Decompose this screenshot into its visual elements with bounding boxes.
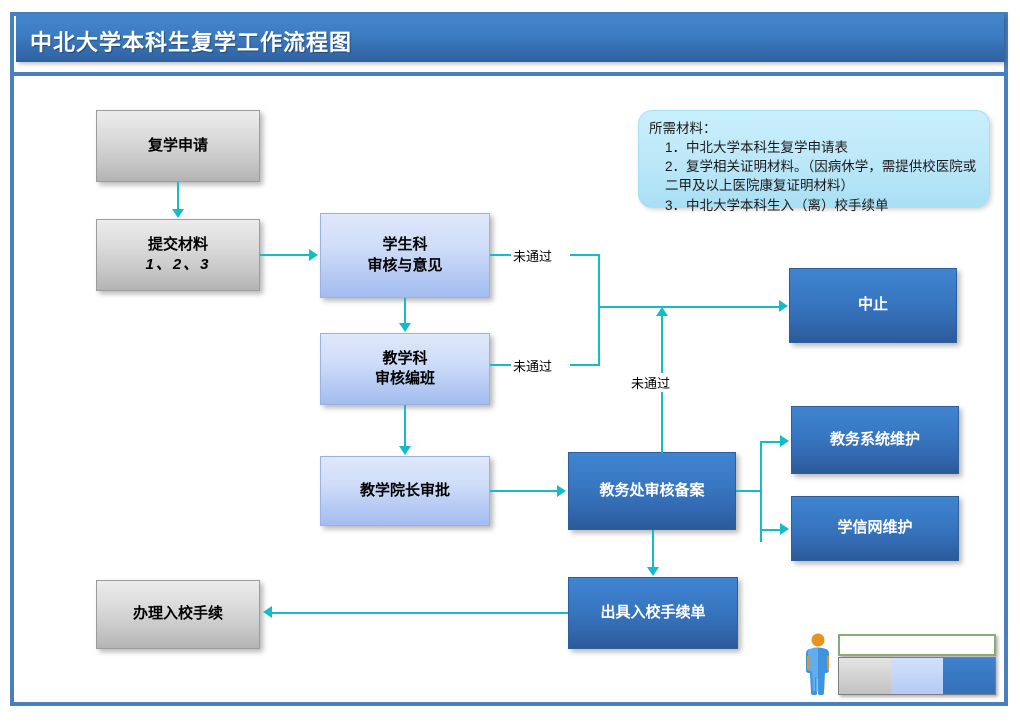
page-title: 中北大学本科生复学工作流程图 bbox=[30, 25, 352, 57]
arrowhead-academic-office-to-issue-slip bbox=[647, 567, 659, 576]
legend-swatch-dark-blue bbox=[943, 658, 995, 694]
edge-academic-office-to-issue-slip bbox=[652, 530, 654, 568]
node-teaching-section-line2: 审核编班 bbox=[375, 369, 435, 389]
arrowhead-academic-office-fail-up bbox=[656, 307, 668, 316]
arrowhead-merged-to-terminate bbox=[779, 300, 788, 312]
note-title: 所需材料： bbox=[649, 119, 979, 138]
edge-submit-to-student-affairs bbox=[260, 254, 310, 256]
node-submit-sublabel: 1、2、3 bbox=[145, 255, 210, 275]
node-issue-entry-slip[interactable]: 出具入校手续单 bbox=[568, 577, 738, 649]
edge-dean-to-academic-office bbox=[490, 490, 558, 492]
node-terminate-label: 中止 bbox=[858, 295, 888, 315]
note-item-3: 3．中北大学本科生入（离）校手续单 bbox=[649, 196, 979, 215]
arrowhead-branch-to-system-maintenance bbox=[780, 435, 789, 447]
node-student-affairs[interactable]: 学生科 审核与意见 bbox=[320, 213, 490, 298]
edge-label-fail-academic-office: 未通过 bbox=[629, 373, 672, 392]
flowchart-canvas: 中北大学本科生复学工作流程图 复学申请 提交材料 1、2、3 学生科 审核与意见… bbox=[0, 0, 1020, 728]
node-dean-approval[interactable]: 教学院长审批 bbox=[320, 456, 490, 526]
arrowhead-issue-slip-to-entry-procedures bbox=[263, 606, 272, 618]
edge-branch-to-system-maintenance bbox=[760, 441, 782, 443]
arrowhead-submit-to-student-affairs bbox=[309, 249, 318, 261]
legend-blank-box bbox=[838, 634, 996, 656]
edge-merged-to-terminate bbox=[598, 306, 780, 308]
edge-teaching-to-dean bbox=[404, 405, 406, 447]
node-system-maintenance[interactable]: 教务系统维护 bbox=[791, 406, 959, 474]
edge-branch-to-chsi-maintenance bbox=[760, 529, 782, 531]
frame-divider bbox=[10, 72, 1008, 76]
arrowhead-apply-to-submit bbox=[172, 209, 184, 218]
node-academic-office[interactable]: 教务处审核备案 bbox=[568, 452, 736, 530]
node-entry-procedures[interactable]: 办理入校手续 bbox=[96, 580, 260, 649]
node-academic-office-label: 教务处审核备案 bbox=[599, 481, 704, 501]
edge-student-affairs-fail-run bbox=[570, 254, 600, 256]
arrowhead-student-affairs-to-teaching bbox=[399, 323, 411, 332]
node-teaching-section[interactable]: 教学科 审核编班 bbox=[320, 333, 490, 405]
arrowhead-dean-to-academic-office bbox=[557, 485, 566, 497]
edge-academic-office-branch-stub bbox=[736, 490, 762, 492]
legend bbox=[800, 632, 1000, 698]
edge-student-affairs-to-teaching bbox=[404, 298, 406, 324]
note-item-2: 2．复学相关证明材料。（因病休学，需提供校医院或二甲及以上医院康复证明材料） bbox=[649, 157, 979, 195]
edge-apply-to-submit bbox=[177, 182, 179, 210]
person-icon bbox=[804, 632, 832, 696]
node-student-affairs-line2: 审核与意见 bbox=[367, 256, 442, 276]
node-chsi-maintenance-label: 学信网维护 bbox=[837, 518, 912, 538]
legend-swatch-light-blue bbox=[891, 658, 943, 694]
note-item-1: 1．中北大学本科生复学申请表 bbox=[649, 138, 979, 157]
node-dean-approval-label: 教学院长审批 bbox=[360, 481, 450, 501]
edge-student-affairs-fail-drop bbox=[598, 254, 600, 308]
node-student-affairs-line1: 学生科 bbox=[382, 235, 427, 255]
title-bar: 中北大学本科生复学工作流程图 bbox=[16, 14, 1004, 62]
legend-swatch-gray bbox=[839, 658, 891, 694]
node-issue-entry-slip-label: 出具入校手续单 bbox=[600, 603, 705, 623]
node-chsi-maintenance[interactable]: 学信网维护 bbox=[791, 496, 959, 561]
node-submit-label: 提交材料 bbox=[148, 235, 208, 255]
legend-swatch-row bbox=[838, 657, 996, 695]
edge-label-fail-teaching: 未通过 bbox=[511, 356, 554, 375]
node-apply-label: 复学申请 bbox=[148, 136, 208, 156]
edge-teaching-fail-run bbox=[570, 364, 600, 366]
node-teaching-section-line1: 教学科 bbox=[382, 349, 427, 369]
required-materials-note: 所需材料： 1．中北大学本科生复学申请表 2．复学相关证明材料。（因病休学，需提… bbox=[638, 110, 990, 208]
edge-issue-slip-to-entry-procedures bbox=[272, 612, 568, 614]
node-submit-materials[interactable]: 提交材料 1、2、3 bbox=[96, 219, 260, 291]
node-entry-procedures-label: 办理入校手续 bbox=[133, 604, 223, 624]
node-system-maintenance-label: 教务系统维护 bbox=[830, 430, 920, 450]
edge-teaching-fail-rise bbox=[598, 306, 600, 366]
arrowhead-teaching-to-dean bbox=[399, 446, 411, 455]
edge-teaching-fail-stub bbox=[490, 364, 512, 366]
edge-student-affairs-fail-stub bbox=[490, 254, 512, 256]
node-terminate[interactable]: 中止 bbox=[789, 268, 957, 343]
arrowhead-branch-to-chsi-maintenance bbox=[780, 523, 789, 535]
edge-academic-office-branch-spine bbox=[760, 441, 762, 542]
node-apply[interactable]: 复学申请 bbox=[96, 110, 260, 182]
edge-label-fail-student-affairs: 未通过 bbox=[511, 246, 554, 265]
